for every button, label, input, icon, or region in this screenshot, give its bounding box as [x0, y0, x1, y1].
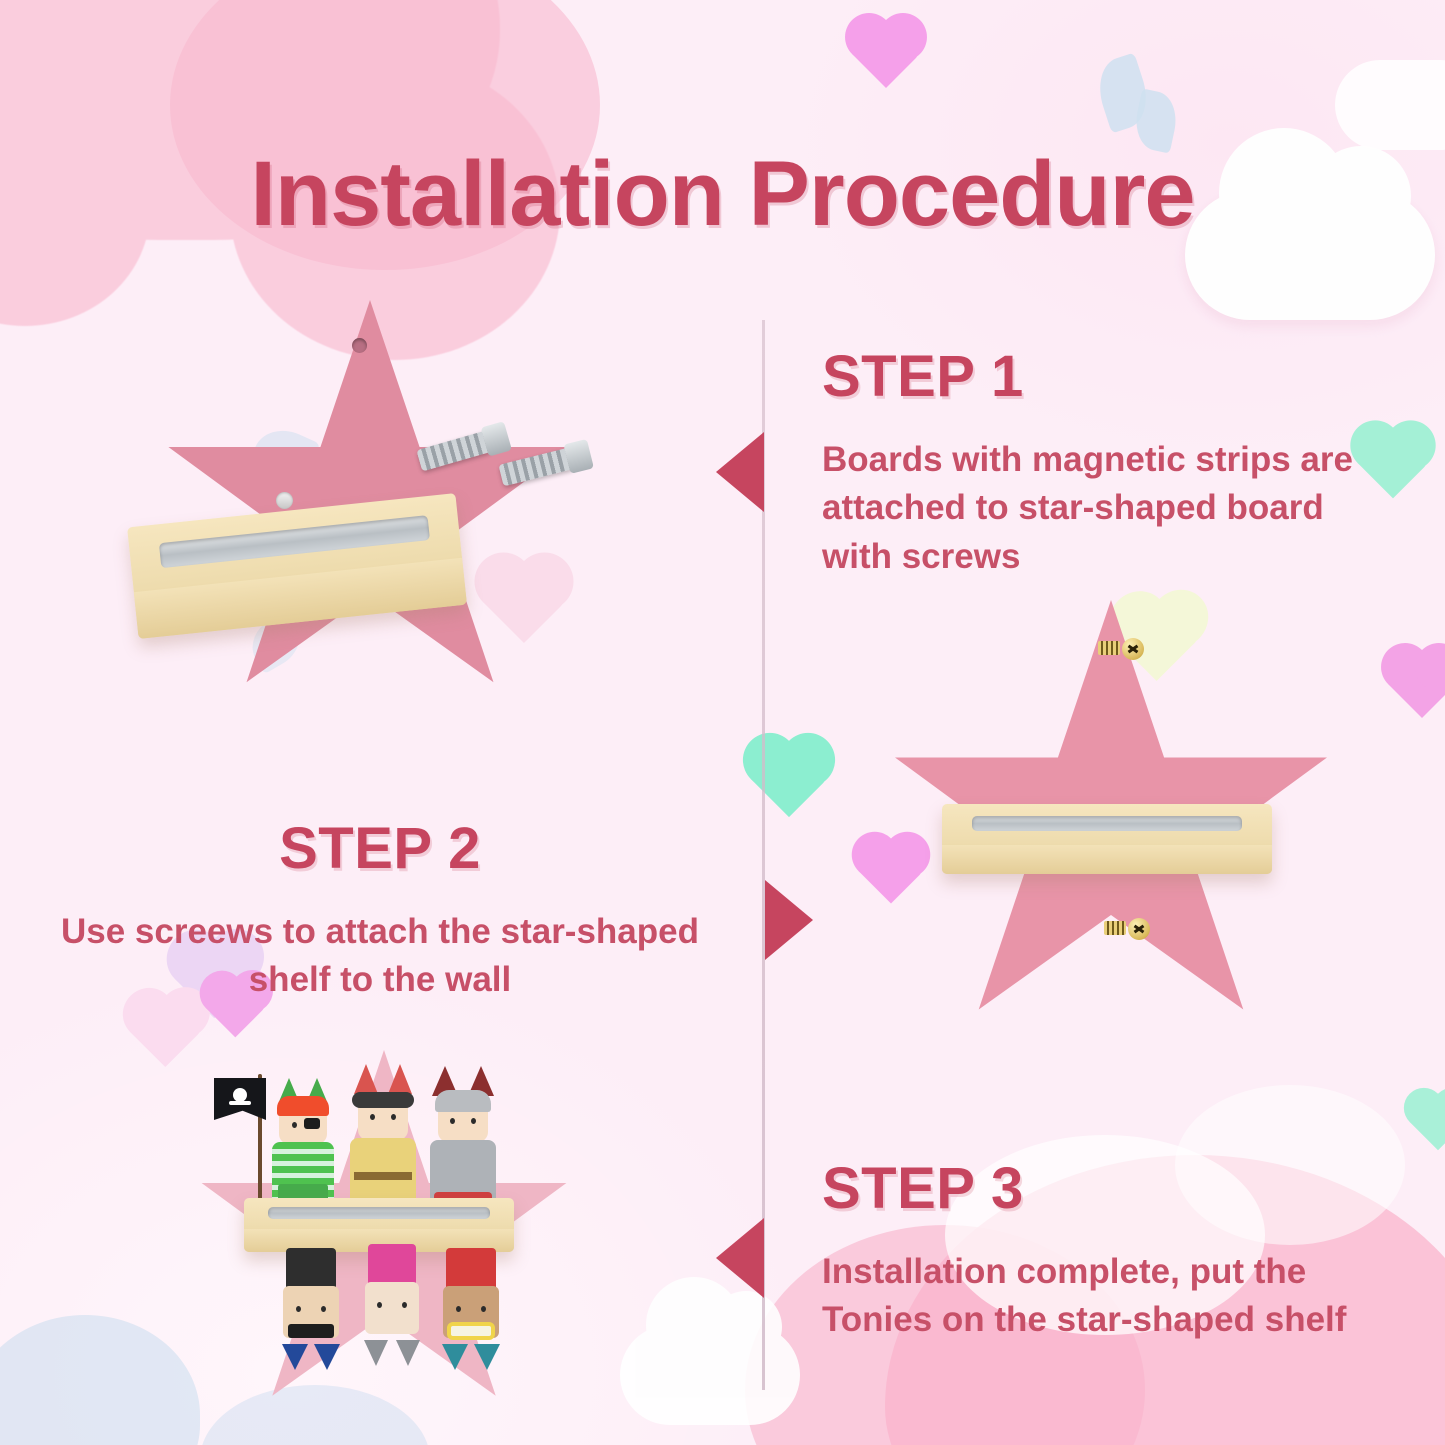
screw-thread [1104, 921, 1126, 935]
shelf-front-edge [942, 845, 1272, 874]
tonie-figure-cowboy [350, 1064, 416, 1214]
ear-tip-left [442, 1344, 468, 1370]
tonie-figure-pirate [272, 1078, 334, 1214]
head [365, 1282, 419, 1334]
gold-screw-bottom [1104, 918, 1150, 938]
eye-left [296, 1306, 301, 1312]
eye [292, 1122, 297, 1128]
wooden-shelf-with-magnetic-strip [942, 804, 1272, 874]
step-1-left-arrow-icon [716, 432, 764, 512]
step-3-description: Installation complete, put the Tonies on… [822, 1248, 1392, 1345]
ear-left [354, 1064, 378, 1094]
pink-heart-icon [862, 30, 910, 78]
step-3-left-arrow-icon [716, 1218, 764, 1298]
beard [288, 1324, 334, 1338]
tonie-figure-lower-right [438, 1248, 504, 1368]
tonie-figure-knight [430, 1066, 496, 1214]
pirate-bandana [277, 1096, 329, 1116]
magnetic-strip [972, 816, 1243, 831]
eye-right [321, 1306, 326, 1312]
step-1-illustration [150, 300, 650, 800]
pirate-flag [214, 1078, 266, 1120]
step-2-text-block: STEP 2 Use screews to attach the star-sh… [60, 820, 700, 1005]
pink-heart-icon [1398, 660, 1445, 708]
eye-left [450, 1118, 455, 1124]
eye-left [377, 1302, 382, 1308]
ear-tip-right [396, 1340, 420, 1366]
star-mount-hole-top [352, 338, 367, 353]
magnetic-strip [268, 1207, 489, 1219]
step-3-illustration [180, 1040, 610, 1440]
white-cloud-top-right-small [1335, 60, 1445, 150]
mouth [447, 1322, 495, 1340]
blue-petal-icon [1090, 53, 1155, 134]
page-title: Installation Procedure [0, 148, 1445, 240]
belt [354, 1172, 412, 1180]
ear-tip-right [314, 1344, 340, 1370]
screw-head [1122, 638, 1144, 660]
step-1-text-block: STEP 1 Boards with magnetic strips are a… [822, 348, 1392, 581]
ear-tip-left [364, 1340, 388, 1366]
white-cloud-bottom-center [620, 1325, 800, 1425]
magnet-hole-left [276, 492, 293, 509]
eye-left [456, 1306, 461, 1312]
step-3-label: STEP 3 [822, 1160, 1392, 1218]
step-1-label: STEP 1 [822, 348, 1392, 406]
infographic-canvas: Installation Procedure [0, 0, 1445, 1445]
step-1-description: Boards with magnetic strips are attached… [822, 436, 1392, 581]
tonie-figure-lower-left [278, 1248, 344, 1368]
screw-thread [1098, 641, 1120, 655]
step-2-right-arrow-icon [765, 880, 813, 960]
eye-patch [304, 1118, 320, 1129]
eye-left [370, 1114, 375, 1120]
magnetic-strip [159, 515, 431, 568]
ear-right [388, 1064, 412, 1094]
mint-heart-icon [1418, 1102, 1445, 1142]
eye-right [402, 1302, 407, 1308]
mint-heart-icon [762, 752, 816, 806]
screw-head [563, 439, 594, 474]
blue-cloud-bottom-left [0, 1315, 200, 1445]
screw-head [481, 421, 512, 456]
cowboy-hat [352, 1092, 414, 1108]
tonie-figure-lower-center [360, 1244, 424, 1364]
step-3-text-block: STEP 3 Installation complete, put the To… [822, 1160, 1392, 1345]
ear-tip-left [282, 1344, 308, 1370]
knight-helmet [435, 1090, 491, 1112]
step-2-illustration [880, 600, 1360, 1060]
ear-tip-right [474, 1344, 500, 1370]
screw-head [1128, 918, 1150, 940]
gold-screw-top [1098, 638, 1144, 658]
step-2-label: STEP 2 [60, 820, 700, 878]
crossbones-icon [229, 1101, 251, 1105]
eye-right [481, 1306, 486, 1312]
eye-right [391, 1114, 396, 1120]
step-2-description: Use screews to attach the star-shaped sh… [60, 908, 700, 1005]
eye-right [471, 1118, 476, 1124]
